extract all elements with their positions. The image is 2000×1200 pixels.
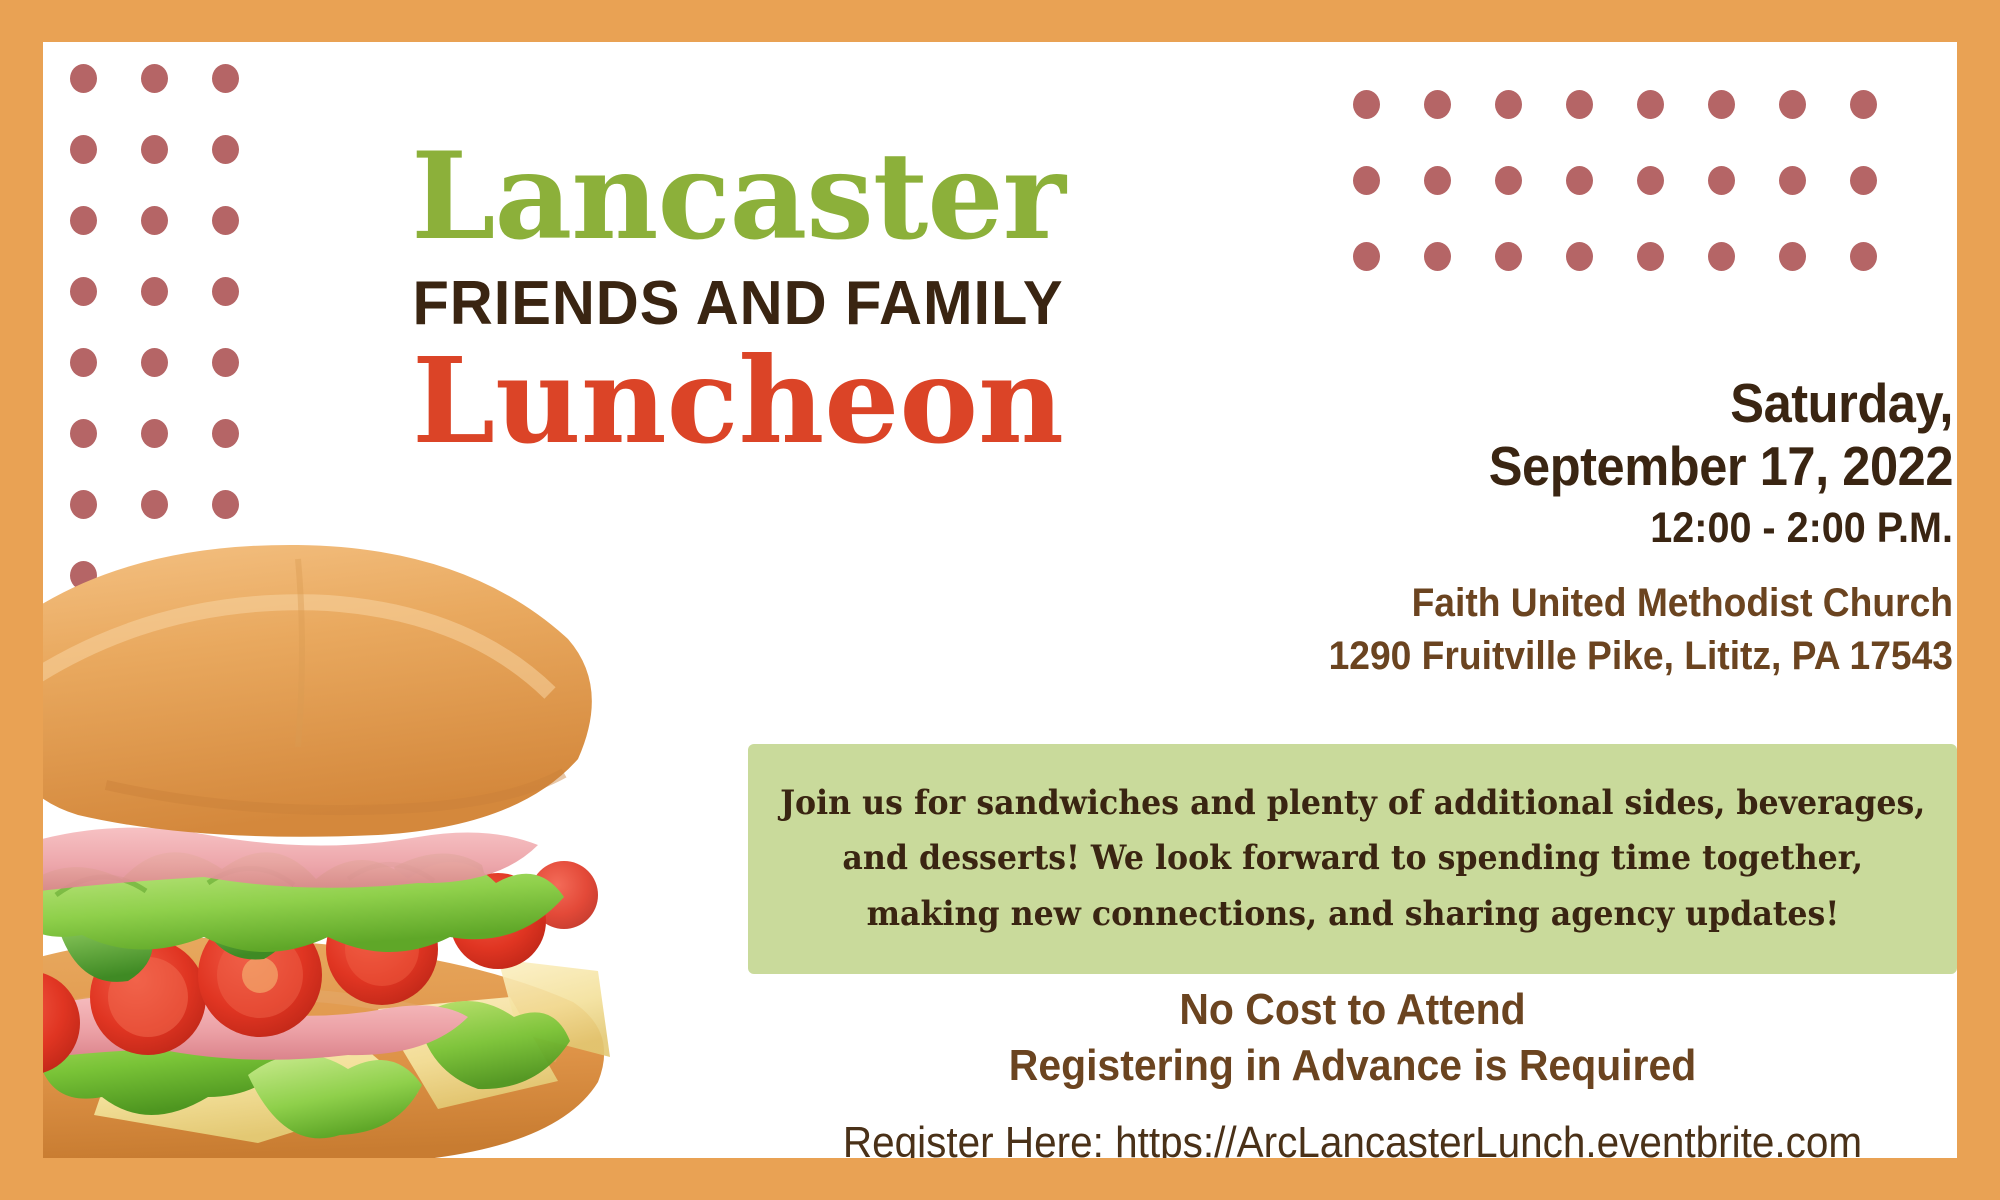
dot [1637, 242, 1664, 271]
dot [212, 206, 239, 235]
dot [141, 561, 168, 590]
event-venue: Faith United Methodist Church [1107, 577, 1953, 630]
dot [141, 348, 168, 377]
dot [1495, 90, 1522, 119]
cost-note: No Cost to Attend [790, 982, 1914, 1038]
dot [70, 561, 97, 590]
event-address: 1290 Fruitville Pike, Lititz, PA 17543 [1107, 630, 1953, 683]
registration-note: Registering in Advance is Required [790, 1038, 1914, 1094]
dot [212, 135, 239, 164]
event-day: Saturday, [1116, 372, 1953, 435]
flyer-canvas: Lancaster FRIENDS AND FAMILY Luncheon Sa… [43, 42, 1957, 1158]
dot [70, 348, 97, 377]
event-flyer: Lancaster FRIENDS AND FAMILY Luncheon Sa… [0, 0, 2000, 1200]
title-line-friends-and-family: FRIENDS AND FAMILY [340, 271, 1137, 336]
dot [212, 348, 239, 377]
headline-block: Lancaster FRIENDS AND FAMILY Luncheon [323, 137, 1153, 460]
title-line-luncheon: Luncheon [323, 342, 1153, 460]
dot [70, 135, 97, 164]
dot [1566, 166, 1593, 195]
dot [70, 206, 97, 235]
dot [212, 490, 239, 519]
dot [1779, 166, 1806, 195]
dot [1495, 166, 1522, 195]
dot [141, 419, 168, 448]
dot [1708, 242, 1735, 271]
dot [1850, 90, 1877, 119]
description-line-1: Join us for sandwiches and plenty of add… [780, 776, 1925, 831]
dot [1424, 242, 1451, 271]
dot [141, 206, 168, 235]
dot [1637, 90, 1664, 119]
decorative-dot-grid-left [70, 64, 283, 632]
title-line-lancaster: Lancaster [323, 137, 1153, 257]
dot [1779, 242, 1806, 271]
dot [1566, 242, 1593, 271]
event-time: 12:00 - 2:00 P.M. [1116, 503, 1953, 555]
description-panel: Join us for sandwiches and plenty of add… [748, 744, 1957, 974]
dot [1353, 90, 1380, 119]
dot [141, 490, 168, 519]
dot [70, 419, 97, 448]
dot [1779, 90, 1806, 119]
event-date: September 17, 2022 [1116, 435, 1953, 498]
dot [1566, 90, 1593, 119]
dot [212, 419, 239, 448]
dot [70, 490, 97, 519]
dot [141, 277, 168, 306]
dot [1424, 90, 1451, 119]
dot [1495, 242, 1522, 271]
call-to-action-block: No Cost to Attend Registering in Advance… [748, 982, 1957, 1158]
dot [1353, 166, 1380, 195]
dot [1424, 166, 1451, 195]
dot [141, 64, 168, 93]
dot [1353, 242, 1380, 271]
description-line-2: and desserts! We look forward to spendin… [842, 831, 1863, 886]
decorative-dot-grid-right [1353, 90, 1921, 318]
dot [212, 64, 239, 93]
dot [1708, 90, 1735, 119]
dot [212, 277, 239, 306]
dot [1708, 166, 1735, 195]
dot [1850, 242, 1877, 271]
description-line-3: making new connections, and sharing agen… [866, 887, 1839, 942]
dot [1637, 166, 1664, 195]
dot [1850, 166, 1877, 195]
dot [70, 64, 97, 93]
event-details-block: Saturday, September 17, 2022 12:00 - 2:0… [1043, 372, 1953, 683]
registration-link[interactable]: Register Here: https://ArcLancasterLunch… [796, 1117, 1908, 1158]
dot [70, 277, 97, 306]
dot [212, 561, 239, 590]
dot [141, 135, 168, 164]
